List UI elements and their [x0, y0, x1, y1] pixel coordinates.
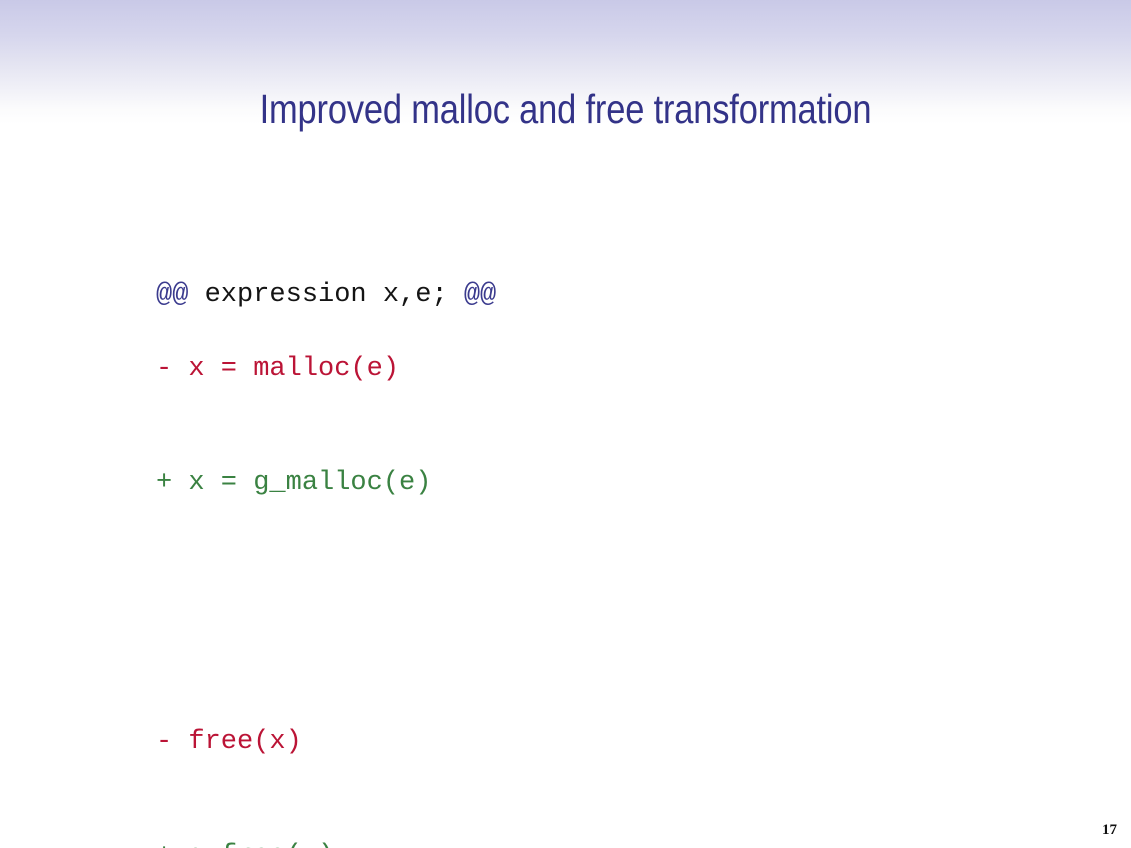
free-added-line: + g_free(x) — [156, 837, 334, 848]
malloc-added-line: + x = g_malloc(e) — [156, 464, 431, 502]
at-close-token: @@ — [464, 280, 496, 310]
free-removed-line: - free(x) — [156, 723, 334, 761]
free-hunk-block: - free(x) + g_free(x) — [156, 647, 334, 848]
semantic-patch-code: @@ expression x,e; @@ - x = malloc(e) + … — [156, 200, 1056, 542]
page-title: Improved malloc and free transformation — [90, 85, 1040, 133]
slide-canvas: Improved malloc and free transformation … — [0, 0, 1131, 848]
malloc-hunk-block: - x = malloc(e) + x = g_malloc(e) — [156, 274, 431, 578]
malloc-removed-line: - x = malloc(e) — [156, 350, 431, 388]
page-number: 17 — [1102, 822, 1117, 839]
